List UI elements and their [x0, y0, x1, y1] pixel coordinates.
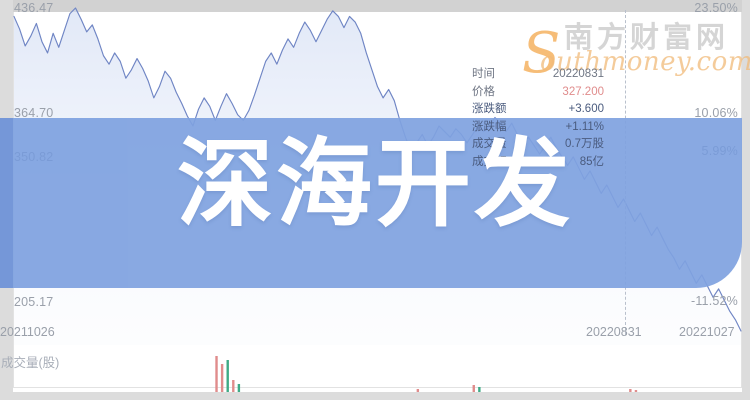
tooltip-value: 20220831	[553, 66, 604, 84]
tooltip-row: 涨跌额 +3.600	[472, 101, 604, 119]
tooltip-value: +3.600	[569, 101, 605, 119]
stock-chart-screenshot: 深海开发 S 南方财富网 outhmoney.com 时间 20220831 价…	[0, 0, 750, 400]
volume-pane-title: 成交量(股)	[1, 352, 59, 371]
volume-baseline	[13, 392, 742, 400]
volume-bar	[221, 364, 223, 394]
tooltip-value: 327.200	[562, 84, 604, 102]
y-axis-label-left-4: 205.17	[14, 295, 53, 309]
tooltip-row: 价格 327.200	[472, 84, 604, 102]
x-axis-label-mid: 20220831	[586, 325, 642, 339]
x-axis-label-end: 20221027	[679, 325, 735, 339]
tooltip-label: 时间	[472, 66, 495, 84]
volume-pane[interactable]	[13, 350, 742, 398]
y-axis-label-right-1: 23.50%	[694, 1, 738, 15]
x-axis-label-start: 20211026	[0, 325, 55, 339]
volume-bar	[227, 360, 229, 394]
y-axis-label-right-4: -11.52%	[691, 294, 738, 308]
headline-title: 深海开发	[0, 134, 750, 234]
y-axis-label-left-1: 436.47	[14, 1, 53, 15]
tooltip-label: 涨跌额	[472, 101, 507, 119]
tooltip-row: 时间 20220831	[472, 66, 604, 84]
tooltip-label: 价格	[472, 84, 495, 102]
volume-bar	[215, 356, 217, 394]
volume-bars-svg	[13, 350, 742, 398]
